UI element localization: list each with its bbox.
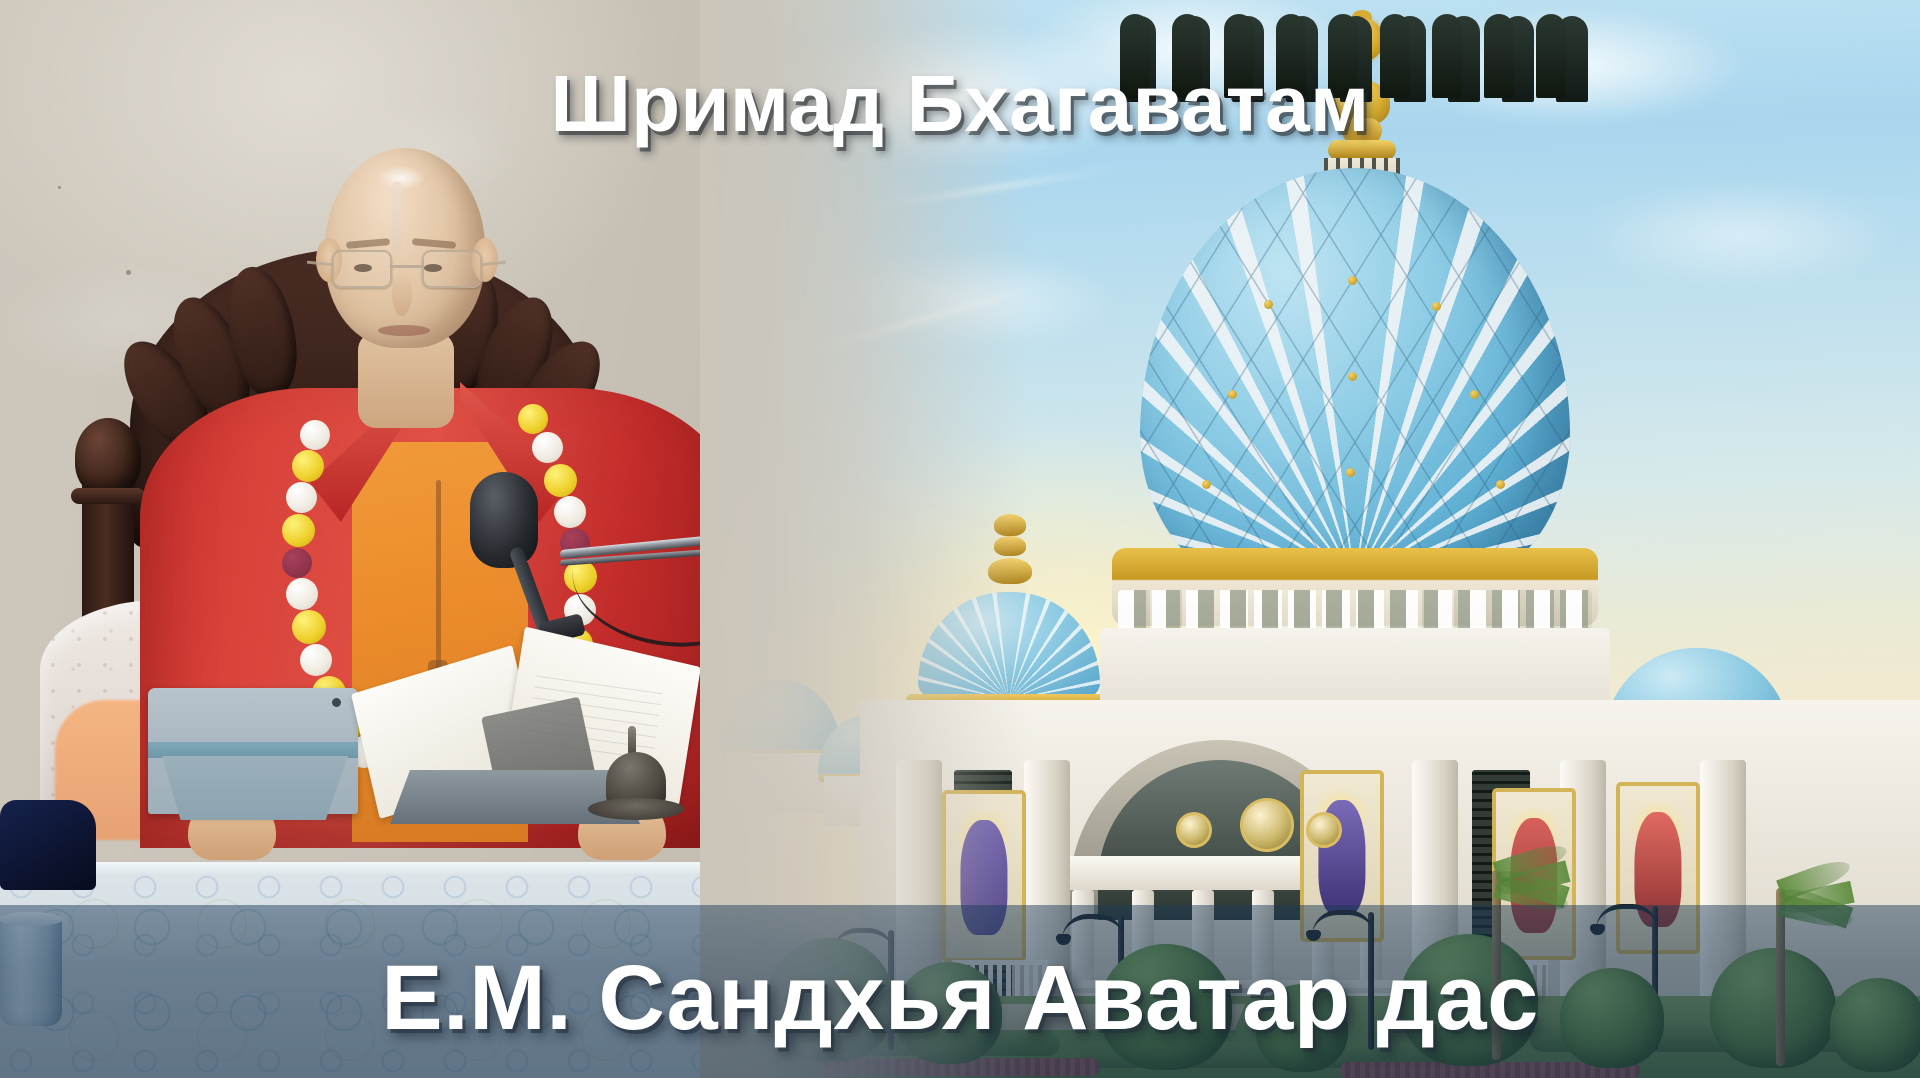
facade-medallion-left: [1176, 812, 1212, 848]
dome-stud-icon: [1470, 390, 1479, 399]
garland-bead: [286, 578, 318, 610]
garland-bead: [282, 514, 315, 547]
facade-medallion-center: [1240, 798, 1294, 852]
main-dome: [1140, 168, 1570, 598]
wall-speck-icon: [58, 186, 61, 189]
facade-medallion-right: [1306, 812, 1342, 848]
garland-bead: [532, 432, 563, 463]
page-title: Шримад Бхагаватам: [0, 58, 1920, 150]
garland-bead: [286, 482, 317, 513]
tablet-case-band: [148, 742, 358, 758]
dome-stud-icon: [1264, 300, 1273, 309]
cloud-icon: [1580, 180, 1900, 290]
throne-finial-left: [75, 418, 141, 496]
garland-bead: [282, 548, 312, 578]
bag-object: [0, 800, 96, 890]
tablet-stand: [162, 756, 348, 820]
throne-collar-left: [71, 488, 145, 504]
video-frame: Шримад Бхагаватам Е.М. Сандхья Аватар да…: [0, 0, 1920, 1078]
microphone-icon: [470, 472, 538, 568]
dome-stud-icon: [1348, 276, 1357, 285]
garland-bead: [292, 610, 326, 644]
dome-stud-icon: [1432, 302, 1441, 311]
garland-bead: [300, 644, 332, 676]
tablet-camera-icon: [332, 698, 341, 707]
dome-stud-icon: [1346, 468, 1355, 477]
dome-stud-icon: [1348, 372, 1357, 381]
speaker-caption: Е.М. Сандхья Аватар дас: [0, 946, 1920, 1051]
dome-stud-icon: [1496, 480, 1505, 489]
bell-base: [588, 798, 684, 820]
garland-bead: [518, 404, 548, 434]
dome-stud-icon: [1202, 480, 1211, 489]
table-edge: [0, 862, 760, 874]
dome-drum-arcade: [1118, 590, 1592, 630]
main-dome-lattice: [1140, 168, 1570, 598]
garland-bead: [544, 464, 577, 497]
dome-stud-icon: [1228, 390, 1237, 399]
garland-bead: [292, 450, 324, 482]
garland-bead: [300, 420, 330, 450]
